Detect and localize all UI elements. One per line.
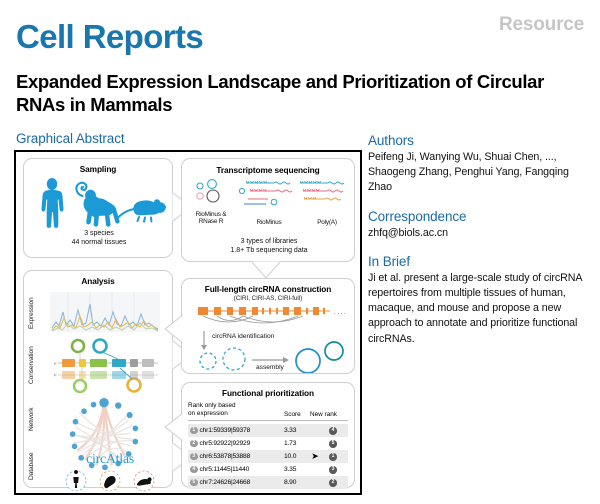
table-row[interactable]: 4 chr5:11445|11440 3.35 3 bbox=[188, 463, 348, 476]
row-rank-badge: 5 bbox=[190, 479, 198, 487]
mouse-circle-icon bbox=[134, 471, 154, 491]
correspondence-heading: Correspondence bbox=[368, 209, 593, 224]
library-label-polya: Poly(A) bbox=[298, 211, 356, 226]
table-row[interactable]: 3 chr6:53878|53888 10.0 ➤ 1 bbox=[188, 450, 348, 463]
macaque-circle-icon bbox=[100, 471, 120, 491]
macaque-silhouette-icon bbox=[76, 183, 119, 227]
panel-sampling-title: Sampling bbox=[24, 164, 172, 174]
row-rank-badge: 2 bbox=[190, 440, 198, 448]
species-silhouettes bbox=[24, 176, 174, 228]
analysis-row-label-expression: Expression bbox=[28, 291, 35, 335]
expression-profile-chart-icon bbox=[50, 291, 160, 333]
polya-transcripts-icon bbox=[300, 181, 344, 200]
panel-analysis-title: Analysis bbox=[24, 276, 172, 286]
graphical-abstract-figure: Sampling 3 specie bbox=[14, 150, 362, 495]
journal-title: Cell Reports bbox=[16, 20, 203, 53]
row-score: 8.90 bbox=[284, 479, 308, 486]
panel-sampling: Sampling 3 specie bbox=[23, 158, 173, 258]
sampling-stat-species: 3 species bbox=[24, 229, 174, 238]
circrna-identification-label: circRNA identification bbox=[212, 333, 275, 340]
row-coordinate: chr7:24626|24668 bbox=[200, 479, 285, 486]
analysis-row-label-database: Database bbox=[28, 447, 35, 485]
riominus-transcripts-icon bbox=[239, 181, 292, 205]
in-brief-heading: In Brief bbox=[368, 254, 593, 269]
library-type-diagrams bbox=[182, 178, 356, 212]
row-coordinate: chr5:92922|92929 bbox=[200, 440, 285, 447]
row-score: 3.33 bbox=[284, 427, 308, 434]
in-brief-block: In Brief Ji et al. present a large-scale… bbox=[368, 254, 593, 347]
row-arrow-icon: ➤ bbox=[308, 452, 322, 461]
panel-construction-subtitle: (CIRI, CIRI-AS, CIRI-full) bbox=[182, 295, 354, 302]
prioritization-table-header: Rank only based on expression Score New … bbox=[188, 402, 348, 421]
row-rank-badge: 1 bbox=[190, 427, 198, 435]
col-rank-line2: on expression bbox=[188, 410, 284, 418]
library-label-rnaser-line1: RioMinus & bbox=[182, 211, 240, 218]
row-rank-badge: 3 bbox=[190, 453, 198, 461]
sequencing-foot-libraries: 3 types of libraries bbox=[182, 237, 356, 246]
row-coordinate: chr6:53878|53888 bbox=[200, 453, 285, 460]
library-label-rnaser-line2: RNase R bbox=[182, 218, 240, 225]
row-new-rank-badge: 5 bbox=[329, 440, 337, 448]
row-score: 10.0 bbox=[284, 453, 308, 460]
table-row[interactable]: 1 chr1:59339|59378 3.33 4 bbox=[188, 424, 348, 437]
row-score: 3.35 bbox=[284, 466, 308, 473]
row-new-rank-badge: 3 bbox=[329, 466, 337, 474]
row-new-rank-badge: 4 bbox=[329, 427, 337, 435]
analysis-row-label-network: Network bbox=[28, 397, 35, 441]
page-title: Expanded Expression Landscape and Priori… bbox=[16, 70, 586, 117]
human-circle-icon bbox=[66, 470, 86, 491]
gene-conservation-diagram-icon bbox=[46, 337, 166, 395]
col-new-rank: New rank bbox=[310, 411, 348, 418]
assembly-label: assembly bbox=[256, 364, 285, 371]
row-coordinate: chr5:11445|11440 bbox=[200, 466, 285, 473]
gene-model-ellipsis: . . . . bbox=[334, 310, 346, 316]
graphical-abstract-heading: Graphical Abstract bbox=[16, 131, 125, 146]
article-type-label: Resource bbox=[499, 14, 584, 36]
panel-prioritization-title: Functional prioritization bbox=[182, 388, 354, 398]
human-silhouette-icon bbox=[41, 178, 63, 228]
sampling-stat-tissues: 44 normal tissues bbox=[24, 238, 174, 247]
construction-tail bbox=[163, 313, 185, 347]
in-brief-text: Ji et al. present a large-scale study of… bbox=[368, 271, 593, 347]
panel-sequencing-title: Transcriptome sequencing bbox=[182, 165, 354, 175]
authors-heading: Authors bbox=[368, 133, 593, 148]
identification-assembly-diagram: circRNA identification assembly bbox=[182, 329, 356, 373]
row-new-rank-badge: 2 bbox=[329, 479, 337, 487]
panel-functional-prioritization: Functional prioritization Rank only base… bbox=[181, 382, 355, 488]
mouse-silhouette-icon bbox=[117, 199, 166, 222]
correspondence-email[interactable]: zhfq@biols.ac.cn bbox=[368, 226, 593, 241]
table-row[interactable]: 2 chr5:92922|92929 1.73 5 bbox=[188, 437, 348, 450]
circatlas-logo-icon: circAtlas bbox=[54, 453, 166, 467]
circatlas-species-circles bbox=[54, 469, 166, 495]
panel-construction-title: Full-length circRNA construction bbox=[182, 284, 354, 294]
authors-list: Peifeng Ji, Wanying Wu, Shuai Chen, ...,… bbox=[368, 150, 593, 196]
gene-model-backsplice-diagram: . . . . bbox=[182, 305, 356, 331]
row-coordinate: chr1:59339|59378 bbox=[200, 427, 285, 434]
sequencing-foot-data: 1.8+ Tb sequencing data bbox=[182, 246, 356, 255]
right-column: Authors Peifeng Ji, Wanying Wu, Shuai Ch… bbox=[368, 133, 593, 360]
correspondence-block: Correspondence zhfq@biols.ac.cn bbox=[368, 209, 593, 241]
authors-block: Authors Peifeng Ji, Wanying Wu, Shuai Ch… bbox=[368, 133, 593, 196]
table-row[interactable]: 5 chr7:24626|24668 8.90 2 bbox=[188, 476, 348, 489]
prioritization-tail bbox=[163, 411, 185, 445]
col-score: Score bbox=[284, 411, 310, 418]
panel-transcriptome-sequencing: Transcriptome sequencing bbox=[181, 158, 355, 262]
row-score: 1.73 bbox=[284, 440, 308, 447]
row-rank-badge: 4 bbox=[190, 466, 198, 474]
masthead: Cell Reports bbox=[16, 20, 203, 53]
panel-analysis: Analysis Expression Conservation Network… bbox=[23, 270, 173, 488]
prioritization-table-body: 1 chr1:59339|59378 3.33 4 2 chr5:92922|9… bbox=[182, 424, 354, 489]
col-rank-line1: Rank only based bbox=[188, 402, 284, 410]
rnase-r-circles-icon bbox=[197, 180, 219, 202]
row-new-rank-badge: 1 bbox=[329, 453, 337, 461]
library-label-riominus: RioMinus bbox=[240, 211, 298, 226]
analysis-row-label-conservation: Conservation bbox=[28, 337, 35, 393]
panel-circrna-construction: Full-length circRNA construction (CIRI, … bbox=[181, 278, 355, 374]
